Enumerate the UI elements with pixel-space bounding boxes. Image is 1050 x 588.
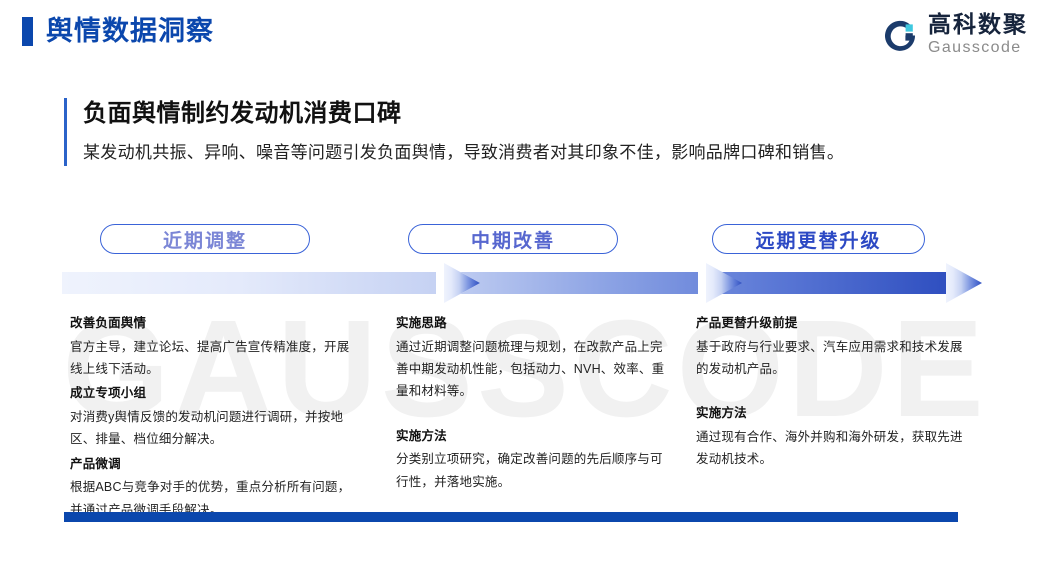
detail-heading: 产品微调 bbox=[70, 453, 360, 477]
slide-root: GAUSSCODE 舆情数据洞察 高科数聚 Gausscode 负面舆情制约发动… bbox=[0, 0, 1050, 588]
detail-heading: 实施方法 bbox=[696, 402, 968, 426]
detail-block: 改善负面舆情 官方主导，建立论坛、提高广告宣传精准度，开展线上线下活动。 bbox=[70, 312, 360, 380]
phase-pill-mid-term[interactable]: 中期改善 bbox=[408, 224, 618, 254]
logo-name-en: Gausscode bbox=[928, 40, 1028, 56]
column-long-term: 产品更替升级前提 基于政府与行业要求、汽车应用需求和技术发展的发动机产品。 实施… bbox=[696, 312, 968, 473]
detail-body: 通过现有合作、海外并购和海外研发，获取先进发动机技术。 bbox=[696, 426, 968, 471]
detail-heading: 实施方法 bbox=[396, 425, 668, 449]
phase-pill-near-term[interactable]: 近期调整 bbox=[100, 224, 310, 254]
slide-header: 舆情数据洞察 高科数聚 Gausscode bbox=[0, 0, 1050, 70]
detail-heading: 实施思路 bbox=[396, 312, 668, 336]
intro-title: 负面舆情制约发动机消费口碑 bbox=[83, 98, 974, 130]
intro-block: 负面舆情制约发动机消费口碑 某发动机共振、异响、噪音等问题引发负面舆情，导致消费… bbox=[64, 98, 974, 166]
detail-block: 实施方法 分类别立项研究，确定改善问题的先后顺序与可行性，并落地实施。 bbox=[396, 425, 668, 493]
header-title-group: 舆情数据洞察 bbox=[22, 17, 214, 46]
detail-body: 对消费y舆情反馈的发动机问题进行调研，并按地区、排量、档位细分解决。 bbox=[70, 406, 360, 451]
right-arrow-progress-icon bbox=[62, 262, 982, 304]
brand-logo: 高科数聚 Gausscode bbox=[881, 13, 1028, 56]
phase-pill-long-term[interactable]: 远期更替升级 bbox=[712, 224, 925, 254]
column-mid-term: 实施思路 通过近期调整问题梳理与规划，在改款产品上完善中期发动机性能，包括动力、… bbox=[396, 312, 668, 495]
page-title: 舆情数据洞察 bbox=[46, 18, 214, 45]
square-bullet-icon bbox=[22, 17, 33, 46]
detail-body: 基于政府与行业要求、汽车应用需求和技术发展的发动机产品。 bbox=[696, 336, 968, 381]
detail-body: 官方主导，建立论坛、提高广告宣传精准度，开展线上线下活动。 bbox=[70, 336, 360, 381]
detail-block: 实施思路 通过近期调整问题梳理与规划，在改款产品上完善中期发动机性能，包括动力、… bbox=[396, 312, 668, 403]
detail-block: 产品更替升级前提 基于政府与行业要求、汽车应用需求和技术发展的发动机产品。 bbox=[696, 312, 968, 380]
logo-text-group: 高科数聚 Gausscode bbox=[928, 13, 1028, 56]
detail-block: 成立专项小组 对消费y舆情反馈的发动机问题进行调研，并按地区、排量、档位细分解决… bbox=[70, 382, 360, 450]
gausscode-g-logo-icon bbox=[881, 16, 919, 54]
column-near-term: 改善负面舆情 官方主导，建立论坛、提高广告宣传精准度，开展线上线下活动。 成立专… bbox=[70, 312, 360, 523]
logo-name-cn: 高科数聚 bbox=[928, 13, 1028, 36]
detail-block: 实施方法 通过现有合作、海外并购和海外研发，获取先进发动机技术。 bbox=[696, 402, 968, 470]
intro-subtitle: 某发动机共振、异响、噪音等问题引发负面舆情，导致消费者对其印象不佳，影响品牌口碑… bbox=[83, 141, 974, 166]
detail-heading: 改善负面舆情 bbox=[70, 312, 360, 336]
detail-heading: 产品更替升级前提 bbox=[696, 312, 968, 336]
detail-body: 通过近期调整问题梳理与规划，在改款产品上完善中期发动机性能，包括动力、NVH、效… bbox=[396, 336, 668, 403]
detail-body: 分类别立项研究，确定改善问题的先后顺序与可行性，并落地实施。 bbox=[396, 448, 668, 493]
detail-block: 产品微调 根据ABC与竞争对手的优势，重点分析所有问题，并通过产品微调手段解决。 bbox=[70, 453, 360, 521]
detail-heading: 成立专项小组 bbox=[70, 382, 360, 406]
footer-accent-bar bbox=[64, 512, 958, 522]
